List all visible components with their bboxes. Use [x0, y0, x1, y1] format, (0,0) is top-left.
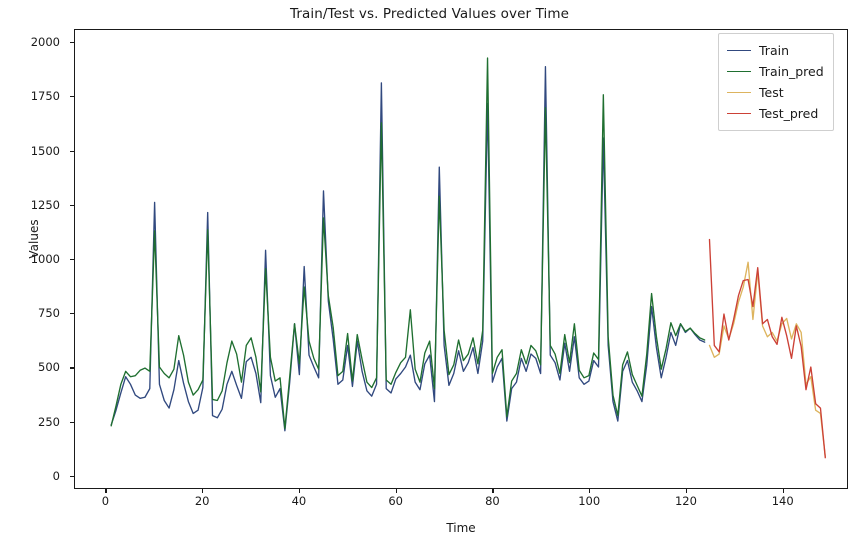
y-axis-label: Values — [27, 179, 41, 299]
x-tick-80: 80 — [470, 494, 514, 508]
y-tick-500: 500 — [0, 360, 60, 374]
series-line-train_pred — [111, 58, 704, 429]
x-tickmark-100 — [589, 489, 590, 493]
chart-figure: Train/Test vs. Predicted Values over Tim… — [0, 0, 859, 545]
legend-label: Test_pred — [759, 106, 818, 121]
x-tickmark-0 — [105, 489, 106, 493]
series-line-test_pred — [709, 240, 825, 458]
y-tick-0: 0 — [0, 469, 60, 483]
x-tickmark-40 — [299, 489, 300, 493]
x-tick-20: 20 — [180, 494, 224, 508]
x-tickmark-120 — [686, 489, 687, 493]
y-tick-250: 250 — [0, 415, 60, 429]
legend-label: Train_pred — [759, 64, 824, 79]
legend-swatch-train_pred-icon — [727, 71, 751, 72]
x-tick-40: 40 — [277, 494, 321, 508]
legend-item-train[interactable]: Train — [727, 40, 824, 61]
x-tickmark-80 — [492, 489, 493, 493]
legend-item-train_pred[interactable]: Train_pred — [727, 61, 824, 82]
legend-label: Train — [759, 43, 789, 58]
x-tickmark-60 — [396, 489, 397, 493]
y-tick-1750: 1750 — [0, 89, 60, 103]
y-tick-2000: 2000 — [0, 35, 60, 49]
x-axis-label: Time — [74, 521, 848, 535]
legend-swatch-test_pred-icon — [727, 113, 751, 114]
series-line-train — [111, 67, 704, 431]
x-tickmark-140 — [783, 489, 784, 493]
chart-legend: TrainTrain_predTestTest_pred — [718, 33, 834, 131]
x-tick-100: 100 — [567, 494, 611, 508]
legend-swatch-train-icon — [727, 50, 751, 51]
y-tick-1500: 1500 — [0, 144, 60, 158]
y-tick-750: 750 — [0, 306, 60, 320]
legend-item-test[interactable]: Test — [727, 82, 824, 103]
x-tickmark-20 — [202, 489, 203, 493]
x-tick-120: 120 — [664, 494, 708, 508]
x-tick-60: 60 — [374, 494, 418, 508]
page-title: Train/Test vs. Predicted Values over Tim… — [0, 6, 859, 22]
legend-swatch-test-icon — [727, 92, 751, 93]
x-tick-0: 0 — [83, 494, 127, 508]
legend-label: Test — [759, 85, 784, 100]
series-line-test — [709, 262, 825, 456]
x-tick-140: 140 — [761, 494, 805, 508]
legend-item-test_pred[interactable]: Test_pred — [727, 103, 824, 124]
